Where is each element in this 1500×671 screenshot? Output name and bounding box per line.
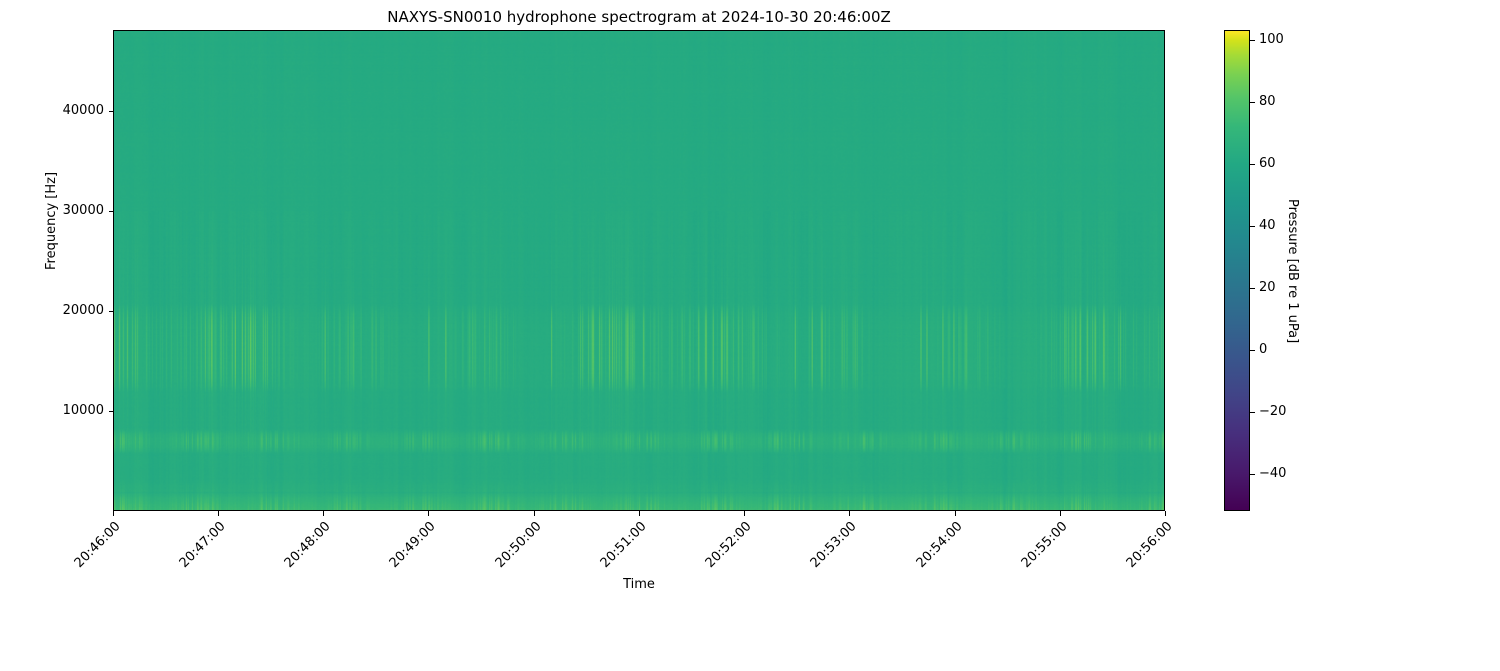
x-tick-mark (113, 511, 114, 516)
colorbar[interactable] (1224, 30, 1250, 511)
y-tick-mark (109, 311, 114, 312)
y-tick-mark (109, 211, 114, 212)
x-tick-mark (1060, 511, 1061, 516)
y-axis-label: Frequency [Hz] (44, 172, 59, 270)
colorbar-tick-mark (1250, 412, 1255, 413)
colorbar-tick-label: 40 (1259, 218, 1276, 233)
y-tick-label: 30000 (0, 203, 104, 218)
colorbar-tick-mark (1250, 226, 1255, 227)
y-tick-label: 20000 (0, 303, 104, 318)
y-tick-mark (109, 111, 114, 112)
y-tick-label: 40000 (0, 103, 104, 118)
colorbar-tick-mark (1250, 40, 1255, 41)
colorbar-tick-label: 80 (1259, 94, 1276, 109)
x-tick-mark (323, 511, 324, 516)
x-tick-mark (534, 511, 535, 516)
colorbar-tick-label: 60 (1259, 156, 1276, 171)
colorbar-tick-mark (1250, 474, 1255, 475)
colorbar-label: Pressure [dB re 1 uPa] (1285, 199, 1300, 343)
colorbar-tick-label: 20 (1259, 280, 1276, 295)
x-tick-mark (639, 511, 640, 516)
spectrogram-figure: NAXYS-SN0010 hydrophone spectrogram at 2… (0, 0, 1500, 600)
x-axis-label: Time (113, 577, 1165, 592)
y-tick-label: 10000 (0, 403, 104, 418)
x-tick-mark (744, 511, 745, 516)
colorbar-tick-label: −40 (1259, 466, 1286, 481)
x-tick-mark (428, 511, 429, 516)
spectrogram-axes[interactable] (113, 30, 1165, 511)
colorbar-tick-label: 100 (1259, 32, 1284, 47)
x-tick-mark (849, 511, 850, 516)
spectrogram-image (114, 31, 1164, 510)
x-tick-mark (218, 511, 219, 516)
colorbar-tick-mark (1250, 288, 1255, 289)
colorbar-tick-mark (1250, 164, 1255, 165)
colorbar-tick-label: 0 (1259, 342, 1267, 357)
x-tick-mark (955, 511, 956, 516)
x-tick-mark (1165, 511, 1166, 516)
colorbar-tick-mark (1250, 102, 1255, 103)
y-tick-mark (109, 411, 114, 412)
colorbar-tick-label: −20 (1259, 404, 1286, 419)
colorbar-tick-mark (1250, 350, 1255, 351)
page-title: NAXYS-SN0010 hydrophone spectrogram at 2… (113, 8, 1165, 26)
